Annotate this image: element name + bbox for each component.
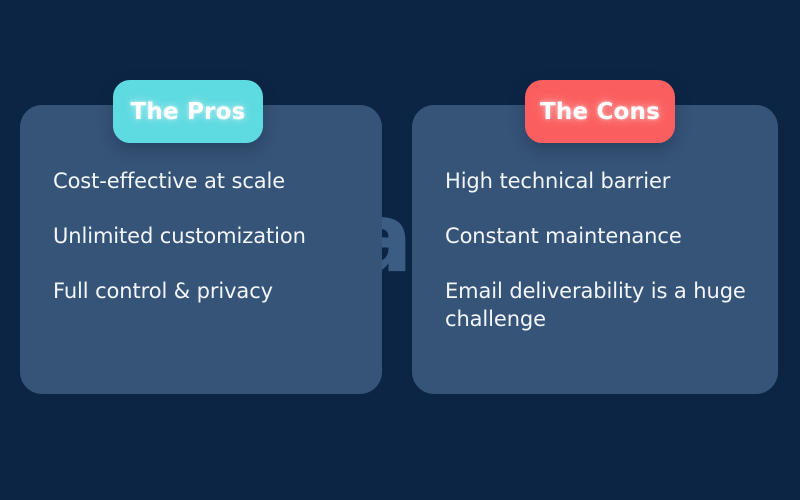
list-item: Cost-effective at scale <box>53 167 358 195</box>
pros-list: Cost-effective at scale Unlimited custom… <box>53 167 358 305</box>
cons-badge: The Cons <box>525 80 675 143</box>
list-item: Full control & privacy <box>53 277 358 305</box>
slide-canvas: Safelyo Cost-effective at scale Unlimite… <box>0 0 800 500</box>
list-item: Unlimited customization <box>53 222 358 250</box>
pros-card: Cost-effective at scale Unlimited custom… <box>20 105 382 394</box>
list-item: Constant maintenance <box>445 222 754 250</box>
list-item: Email deliverability is a huge challenge <box>445 277 754 333</box>
cons-list: High technical barrier Constant maintena… <box>445 167 754 333</box>
cons-card: High technical barrier Constant maintena… <box>412 105 778 394</box>
pros-badge: The Pros <box>113 80 263 143</box>
list-item: High technical barrier <box>445 167 754 195</box>
